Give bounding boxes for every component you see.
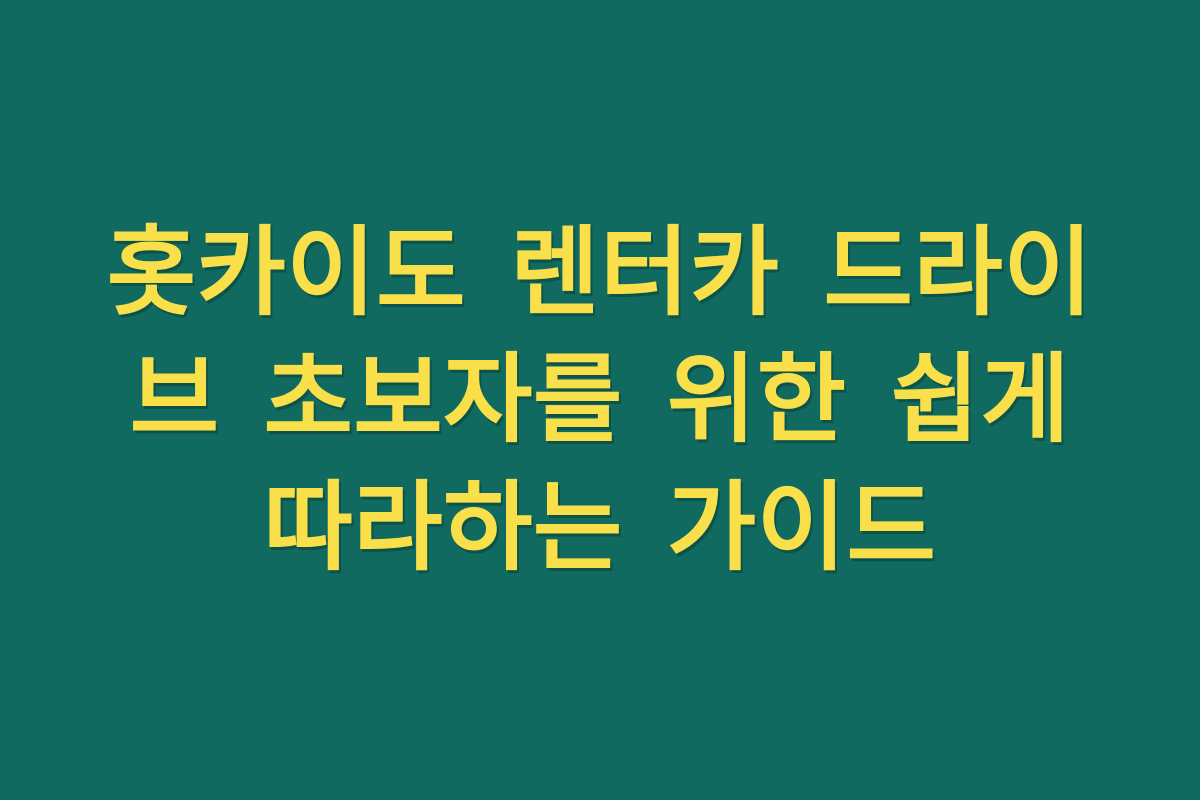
title-card: 홋카이도 렌터카 드라이브 초보자를 위한 쉽게 따라하는 가이드 bbox=[0, 0, 1200, 800]
page-title: 홋카이도 렌터카 드라이브 초보자를 위한 쉽게 따라하는 가이드 bbox=[95, 209, 1105, 590]
